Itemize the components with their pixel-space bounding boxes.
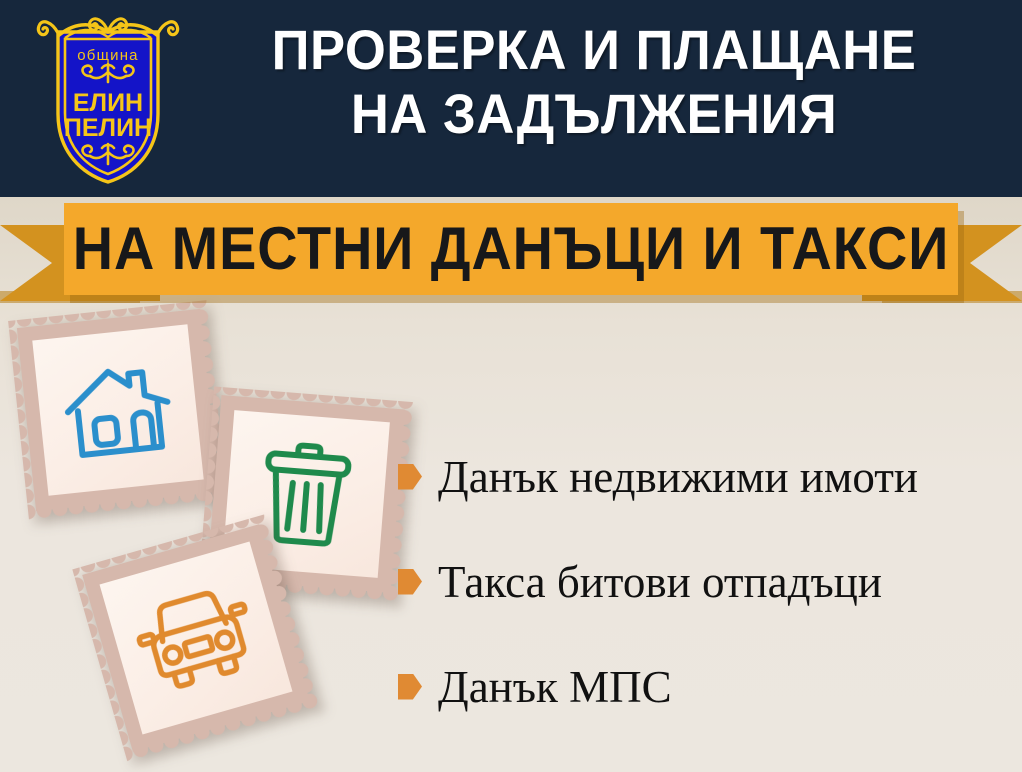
house-icon: [57, 353, 179, 466]
coat-of-arms-logo: община ЕЛИН ПЕЛИН: [32, 6, 184, 188]
poster-canvas: община ЕЛИН ПЕЛИН: [0, 0, 1022, 772]
ribbon-label: НА МЕСТНИ ДАНЪЦИ И ТАКСИ: [95, 203, 926, 295]
car-icon: [127, 578, 266, 699]
title-line-2: НА ЗАДЪЛЖЕНИЯ: [205, 82, 983, 146]
stamp-collage: [0, 296, 420, 772]
ribbon-center-band: НА МЕСТНИ ДАНЪЦИ И ТАКСИ: [64, 203, 958, 295]
list-item-label: Данък недвижими имоти: [438, 452, 918, 502]
header-bar: община ЕЛИН ПЕЛИН: [0, 0, 1022, 197]
list-item-label: Данък МПС: [438, 662, 672, 712]
stamp-card-property: [8, 300, 228, 520]
bullet-arrow-icon: [398, 674, 422, 700]
crest-line-main-2: ПЕЛИН: [64, 114, 152, 142]
list-item: Такса битови отпадъци: [398, 529, 1018, 634]
title-line-1: ПРОВЕРКА И ПЛАЩАНЕ: [205, 18, 983, 82]
subtitle-ribbon: НА МЕСТНИ ДАНЪЦИ И ТАКСИ: [0, 196, 1022, 306]
crest-line-main-1: ЕЛИН: [73, 89, 143, 117]
page-title: ПРОВЕРКА И ПЛАЩАНЕ НА ЗАДЪЛЖЕНИЯ: [180, 18, 1008, 146]
tax-types-list: Данък недвижими имоти Такса битови отпад…: [398, 424, 1018, 739]
bullet-arrow-icon: [398, 569, 422, 595]
list-item: Данък недвижими имоти: [398, 424, 1018, 529]
crest-line-top: община: [77, 47, 138, 64]
bullet-arrow-icon: [398, 464, 422, 490]
list-item-label: Такса битови отпадъци: [438, 557, 882, 607]
list-item: Данък МПС: [398, 634, 1018, 739]
stamp-paper: [32, 324, 203, 495]
